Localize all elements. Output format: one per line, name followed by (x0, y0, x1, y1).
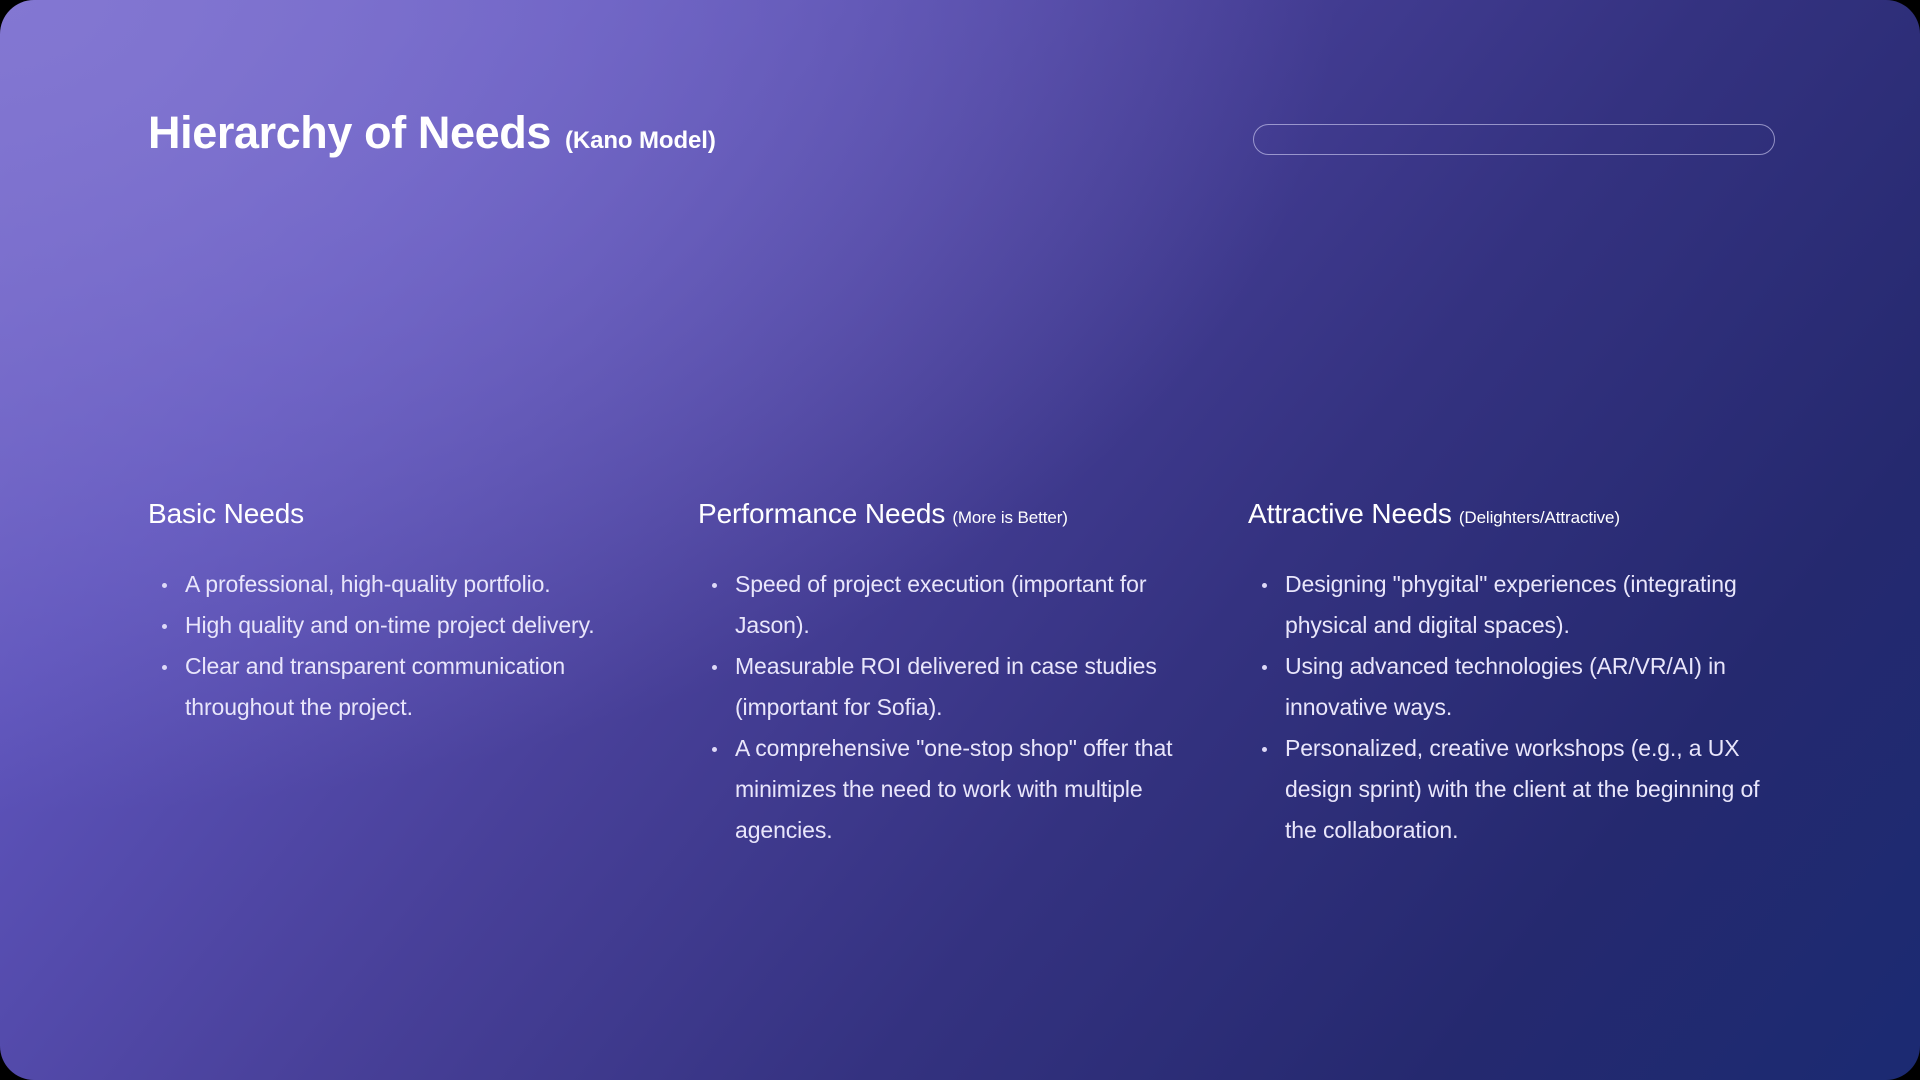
list-item: A comprehensive "one-stop shop" offer th… (698, 728, 1212, 851)
list-item-text: Speed of project execution (important fo… (735, 571, 1146, 638)
column-heading-basic: Basic Needs (148, 500, 662, 528)
column-heading-label: Basic Needs (148, 498, 304, 529)
list-item: Personalized, creative workshops (e.g., … (1248, 728, 1788, 851)
list-item-text: Using advanced technologies (AR/VR/AI) i… (1285, 653, 1726, 720)
column-heading-sublabel: (More is Better) (952, 508, 1068, 527)
bullet-dot-icon (1262, 583, 1267, 588)
column-attractive-needs: Attractive Needs(Delighters/Attractive) … (1248, 500, 1788, 851)
page-title-subtitle: (Kano Model) (565, 129, 716, 153)
list-item: A professional, high-quality portfolio. (148, 564, 662, 605)
bullet-dot-icon (162, 624, 167, 629)
header-pill-outline[interactable] (1253, 124, 1775, 155)
column-heading-label: Performance Needs (698, 498, 945, 529)
list-item: Clear and transparent communication thro… (148, 646, 662, 728)
slide-card: Hierarchy of Needs (Kano Model) Basic Ne… (0, 0, 1920, 1080)
column-basic-needs: Basic Needs A professional, high-quality… (148, 500, 698, 851)
slide-header: Hierarchy of Needs (Kano Model) (148, 110, 716, 155)
bullet-list-performance: Speed of project execution (important fo… (698, 564, 1212, 851)
bullet-dot-icon (712, 747, 717, 752)
needs-columns: Basic Needs A professional, high-quality… (148, 500, 1788, 851)
list-item-text: Designing "phygital" experiences (integr… (1285, 571, 1737, 638)
list-item-text: Measurable ROI delivered in case studies… (735, 653, 1157, 720)
bullet-dot-icon (1262, 665, 1267, 670)
bullet-list-attractive: Designing "phygital" experiences (integr… (1248, 564, 1788, 851)
list-item-text: Personalized, creative workshops (e.g., … (1285, 735, 1759, 843)
column-performance-needs: Performance Needs(More is Better) Speed … (698, 500, 1248, 851)
list-item-text: High quality and on-time project deliver… (185, 612, 595, 638)
list-item: Speed of project execution (important fo… (698, 564, 1212, 646)
list-item-text: Clear and transparent communication thro… (185, 653, 565, 720)
list-item: Measurable ROI delivered in case studies… (698, 646, 1212, 728)
column-heading-label: Attractive Needs (1248, 498, 1452, 529)
bullet-dot-icon (712, 583, 717, 588)
list-item-text: A comprehensive "one-stop shop" offer th… (735, 735, 1172, 843)
page-title: Hierarchy of Needs (148, 110, 551, 155)
column-heading-performance: Performance Needs(More is Better) (698, 500, 1212, 528)
bullet-dot-icon (162, 583, 167, 588)
list-item: Using advanced technologies (AR/VR/AI) i… (1248, 646, 1788, 728)
list-item: High quality and on-time project deliver… (148, 605, 662, 646)
column-heading-attractive: Attractive Needs(Delighters/Attractive) (1248, 500, 1788, 528)
list-item-text: A professional, high-quality portfolio. (185, 571, 551, 597)
list-item: Designing "phygital" experiences (integr… (1248, 564, 1788, 646)
bullet-dot-icon (1262, 747, 1267, 752)
column-heading-sublabel: (Delighters/Attractive) (1459, 508, 1620, 527)
bullet-list-basic: A professional, high-quality portfolio. … (148, 564, 662, 728)
bullet-dot-icon (712, 665, 717, 670)
bullet-dot-icon (162, 665, 167, 670)
